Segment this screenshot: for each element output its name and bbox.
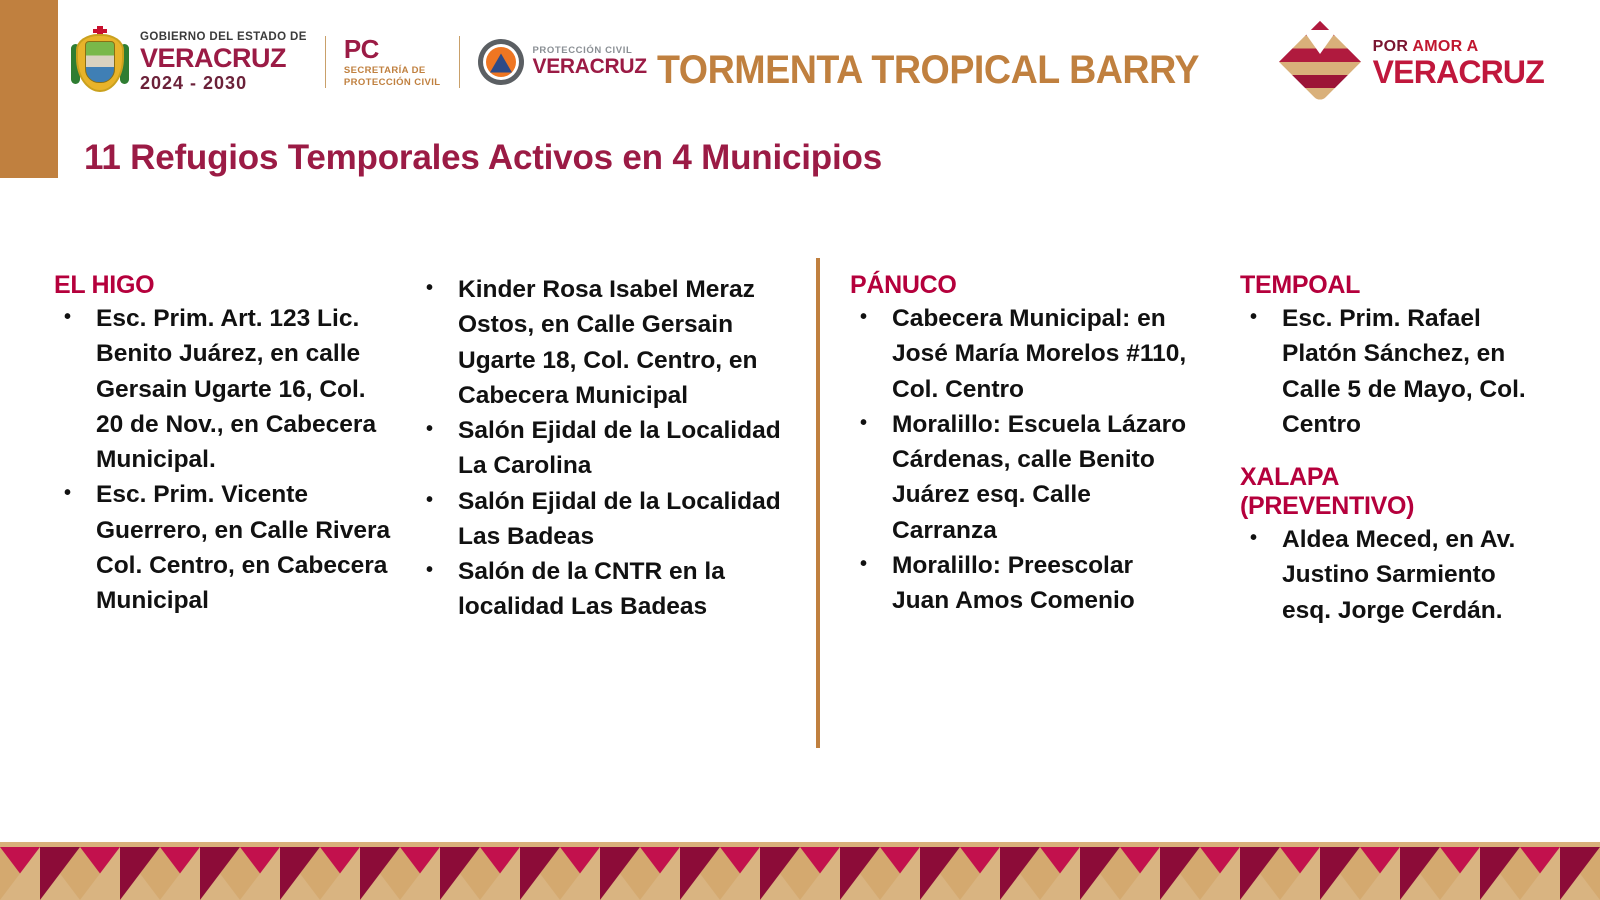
shelters-columns: EL HIGO Esc. Prim. Art. 123 Lic. Benito … bbox=[46, 272, 1566, 752]
band-triangle bbox=[1560, 847, 1600, 900]
logo-lockup-row: GOBIERNO DEL ESTADO DE VERACRUZ 2024 - 2… bbox=[70, 26, 647, 98]
band-triangle bbox=[920, 847, 960, 900]
shelter-list-xalapa: Aldea Meced, en Av. Justino Sarmiento es… bbox=[1240, 522, 1546, 628]
list-item: Esc. Prim. Art. 123 Lic. Benito Juárez, … bbox=[54, 301, 396, 477]
slide-root: GOBIERNO DEL ESTADO DE VERACRUZ 2024 - 2… bbox=[0, 0, 1600, 900]
pc-sub-label-line2: PROTECCIÓN CIVIL bbox=[344, 78, 441, 88]
amor-top-label: POR AMOR A bbox=[1373, 39, 1544, 55]
section-heading-tempoal: TEMPOAL bbox=[1240, 272, 1546, 299]
band-triangle bbox=[280, 847, 320, 900]
gobierno-main-label: VERACRUZ bbox=[140, 45, 307, 73]
list-item: Aldea Meced, en Av. Justino Sarmiento es… bbox=[1240, 522, 1546, 628]
pc-sub-label-line1: SECRETARÍA DE bbox=[344, 66, 441, 76]
band-triangle bbox=[40, 847, 80, 900]
logo-divider-2 bbox=[459, 36, 460, 88]
page-title: 11 Refugios Temporales Activos en 4 Muni… bbox=[84, 138, 882, 178]
band-triangle bbox=[1480, 847, 1520, 900]
band-triangle bbox=[760, 847, 800, 900]
column-el-higo-continued: Kinder Rosa Isabel Meraz Ostos, en Calle… bbox=[416, 272, 816, 752]
list-item: Esc. Prim. Rafael Platón Sánchez, en Cal… bbox=[1240, 301, 1546, 442]
shelter-list-tempoal: Esc. Prim. Rafael Platón Sánchez, en Cal… bbox=[1240, 301, 1546, 442]
list-item: Moralillo: Escuela Lázaro Cárdenas, call… bbox=[850, 407, 1196, 548]
shelter-list-el-higo: Esc. Prim. Art. 123 Lic. Benito Juárez, … bbox=[54, 301, 396, 618]
section-heading-xalapa-line1: XALAPA bbox=[1240, 464, 1546, 491]
band-triangle bbox=[1080, 847, 1120, 900]
band-triangle bbox=[360, 847, 400, 900]
heart-veracruz-icon bbox=[1281, 28, 1359, 98]
band-triangle bbox=[1000, 847, 1040, 900]
band-triangle bbox=[440, 847, 480, 900]
band-triangle bbox=[120, 847, 160, 900]
proteccion-civil-seal-icon bbox=[478, 39, 524, 85]
band-triangle bbox=[840, 847, 880, 900]
band-triangle bbox=[1160, 847, 1200, 900]
storm-title: TORMENTA TROPICAL BARRY bbox=[637, 48, 1220, 93]
band-triangle bbox=[520, 847, 560, 900]
amor-main-label: VERACRUZ bbox=[1373, 56, 1544, 88]
band-triangle bbox=[1400, 847, 1440, 900]
veracruz-state-shield-icon bbox=[70, 26, 130, 98]
column-panuco: PÁNUCO Cabecera Municipal: en José María… bbox=[816, 272, 1216, 752]
bottom-decorative-band bbox=[0, 842, 1600, 900]
shelter-list-panuco: Cabecera Municipal: en José María Morelo… bbox=[850, 301, 1196, 618]
logo-divider-1 bbox=[325, 36, 326, 88]
gobierno-years-label: 2024 - 2030 bbox=[140, 74, 307, 92]
list-item: Esc. Prim. Vicente Guerrero, en Calle Ri… bbox=[54, 477, 396, 618]
shelter-list-el-higo-continued: Kinder Rosa Isabel Meraz Ostos, en Calle… bbox=[416, 272, 796, 625]
section-heading-panuco: PÁNUCO bbox=[850, 272, 1196, 299]
header: GOBIERNO DEL ESTADO DE VERACRUZ 2024 - 2… bbox=[58, 0, 1600, 120]
pc-wordmark: PC SECRETARÍA DE PROTECCIÓN CIVIL bbox=[344, 36, 441, 87]
left-gold-accent-bar bbox=[0, 0, 58, 178]
list-item: Salón Ejidal de la Localidad Las Badeas bbox=[416, 484, 796, 555]
band-triangle bbox=[600, 847, 640, 900]
section-heading-el-higo: EL HIGO bbox=[54, 272, 396, 299]
column-el-higo: EL HIGO Esc. Prim. Art. 123 Lic. Benito … bbox=[46, 272, 416, 752]
gobierno-wordmark: GOBIERNO DEL ESTADO DE VERACRUZ 2024 - 2… bbox=[140, 32, 307, 91]
por-amor-a-veracruz-lockup: POR AMOR A VERACRUZ bbox=[1281, 28, 1544, 98]
list-item: Moralillo: Preescolar Juan Amos Comenio bbox=[850, 548, 1196, 619]
list-item: Kinder Rosa Isabel Meraz Ostos, en Calle… bbox=[416, 272, 796, 413]
section-heading-xalapa-line2: (PREVENTIVO) bbox=[1240, 493, 1546, 520]
amor-wordmark: POR AMOR A VERACRUZ bbox=[1373, 39, 1544, 88]
column-tempoal-xalapa: TEMPOAL Esc. Prim. Rafael Platón Sánchez… bbox=[1216, 272, 1566, 752]
band-triangle bbox=[200, 847, 240, 900]
band-triangle bbox=[1320, 847, 1360, 900]
band-triangle bbox=[1240, 847, 1280, 900]
pcv-main-label: VERACRUZ bbox=[533, 56, 647, 78]
proteccion-civil-lockup: PROTECCIÓN CIVIL VERACRUZ bbox=[478, 39, 647, 85]
band-triangle bbox=[680, 847, 720, 900]
proteccion-civil-wordmark: PROTECCIÓN CIVIL VERACRUZ bbox=[533, 46, 647, 78]
pc-main-label: PC bbox=[344, 36, 441, 63]
list-item: Salón Ejidal de la Localidad La Carolina bbox=[416, 413, 796, 484]
list-item: Cabecera Municipal: en José María Morelo… bbox=[850, 301, 1196, 407]
list-item: Salón de la CNTR en la localidad Las Bad… bbox=[416, 554, 796, 625]
